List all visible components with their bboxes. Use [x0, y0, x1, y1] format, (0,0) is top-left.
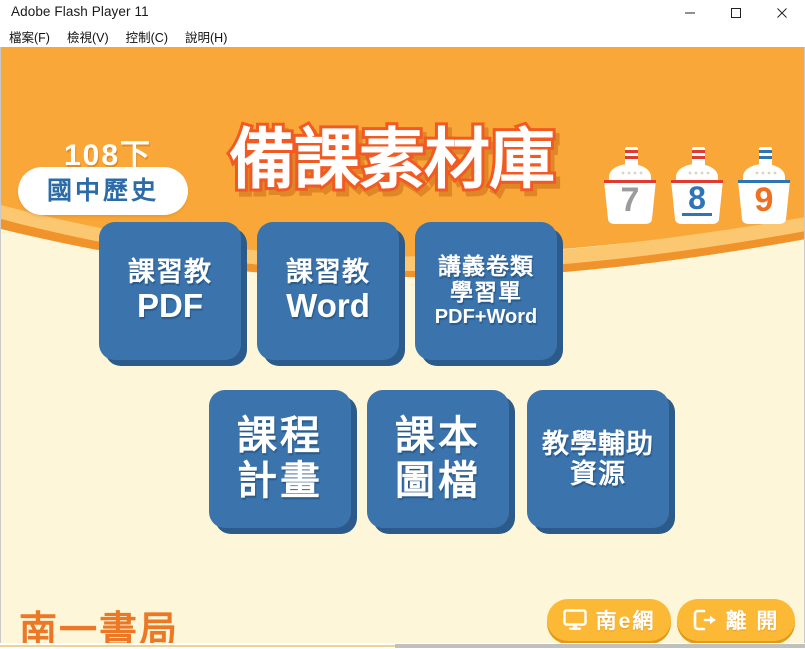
button-line-1: 課習教: [128, 257, 212, 287]
footer-button-label: 離 開: [726, 605, 780, 635]
menu-item-help[interactable]: 說明(H): [185, 27, 227, 46]
page-title-text: 備課素材庫: [229, 126, 554, 192]
menu-button-kecheng-jihua[interactable]: 課程 計畫: [209, 390, 351, 528]
button-line-2: 計畫: [237, 459, 323, 504]
button-line-1: 課習教: [286, 257, 370, 287]
menu-button-jiangyi-juanlei[interactable]: 講義卷類 學習單 PDF+Word: [415, 222, 557, 360]
subject-label: 國中歷史: [47, 179, 159, 204]
bottom-sliver-left: [0, 645, 395, 647]
button-line-2: 資源: [570, 459, 626, 489]
menu-button-kexi-jiao-pdf[interactable]: 課習教 PDF: [99, 222, 241, 360]
footer-button-nan-e-wang[interactable]: 南e網: [547, 599, 671, 641]
button-line-3: PDF+Word: [435, 306, 537, 328]
button-line-1: 課本: [395, 414, 481, 459]
book-icon-8: 8: [668, 147, 726, 225]
bottom-sliver-right: [395, 644, 805, 648]
menu-button-keben-tudang[interactable]: 課本 圖檔: [367, 390, 509, 528]
grade-book-icons: 7 8: [601, 145, 801, 223]
subject-badge: 國中歷史: [18, 167, 188, 215]
flash-player-window: Adobe Flash Player 11 檔案(F) 檢視(V: [0, 0, 805, 649]
publisher-brand: 南一書局: [19, 599, 179, 643]
page-title: 備課素材庫: [229, 109, 599, 209]
button-line-2: 學習單: [450, 280, 522, 306]
book-number-8: 8: [688, 180, 706, 216]
button-line-2: 圖檔: [395, 459, 481, 504]
book-number-7: 7: [621, 181, 640, 219]
maximize-icon: [730, 7, 742, 19]
footer-button-exit[interactable]: 離 開: [677, 599, 795, 641]
maximize-button[interactable]: [713, 0, 759, 26]
menu-item-view[interactable]: 檢視(V): [67, 27, 109, 46]
monitor-icon: [563, 609, 587, 631]
book-icon-7: 7: [601, 147, 659, 225]
menu-bar: 檔案(F) 檢視(V) 控制(C) 說明(H): [0, 26, 805, 47]
exit-icon: [693, 609, 717, 631]
title-bar: Adobe Flash Player 11: [0, 0, 805, 26]
book-icon-9: 9: [735, 147, 793, 225]
window-title: Adobe Flash Player 11: [11, 4, 149, 19]
button-line-1: 教學輔助: [542, 429, 654, 459]
book-number-9: 9: [755, 181, 774, 219]
window-controls: [667, 0, 805, 26]
close-icon: [776, 7, 788, 19]
button-line-1: 講義卷類: [438, 254, 534, 280]
menu-button-jiaoxue-fuzhu-ziyuan[interactable]: 教學輔助 資源: [527, 390, 669, 528]
minimize-icon: [684, 7, 696, 19]
button-line-1: 課程: [237, 414, 323, 459]
bottom-edge-sliver: [0, 643, 805, 649]
menu-item-control[interactable]: 控制(C): [126, 27, 168, 46]
menu-item-file[interactable]: 檔案(F): [9, 27, 50, 46]
button-line-2: PDF: [137, 288, 203, 325]
footer-button-label: 南e網: [596, 605, 656, 635]
button-line-2: Word: [286, 288, 370, 325]
minimize-button[interactable]: [667, 0, 713, 26]
menu-button-kexi-jiao-word[interactable]: 課習教 Word: [257, 222, 399, 360]
flash-stage: 108下 國中歷史 備課素材庫: [0, 47, 805, 643]
close-button[interactable]: [759, 0, 805, 26]
